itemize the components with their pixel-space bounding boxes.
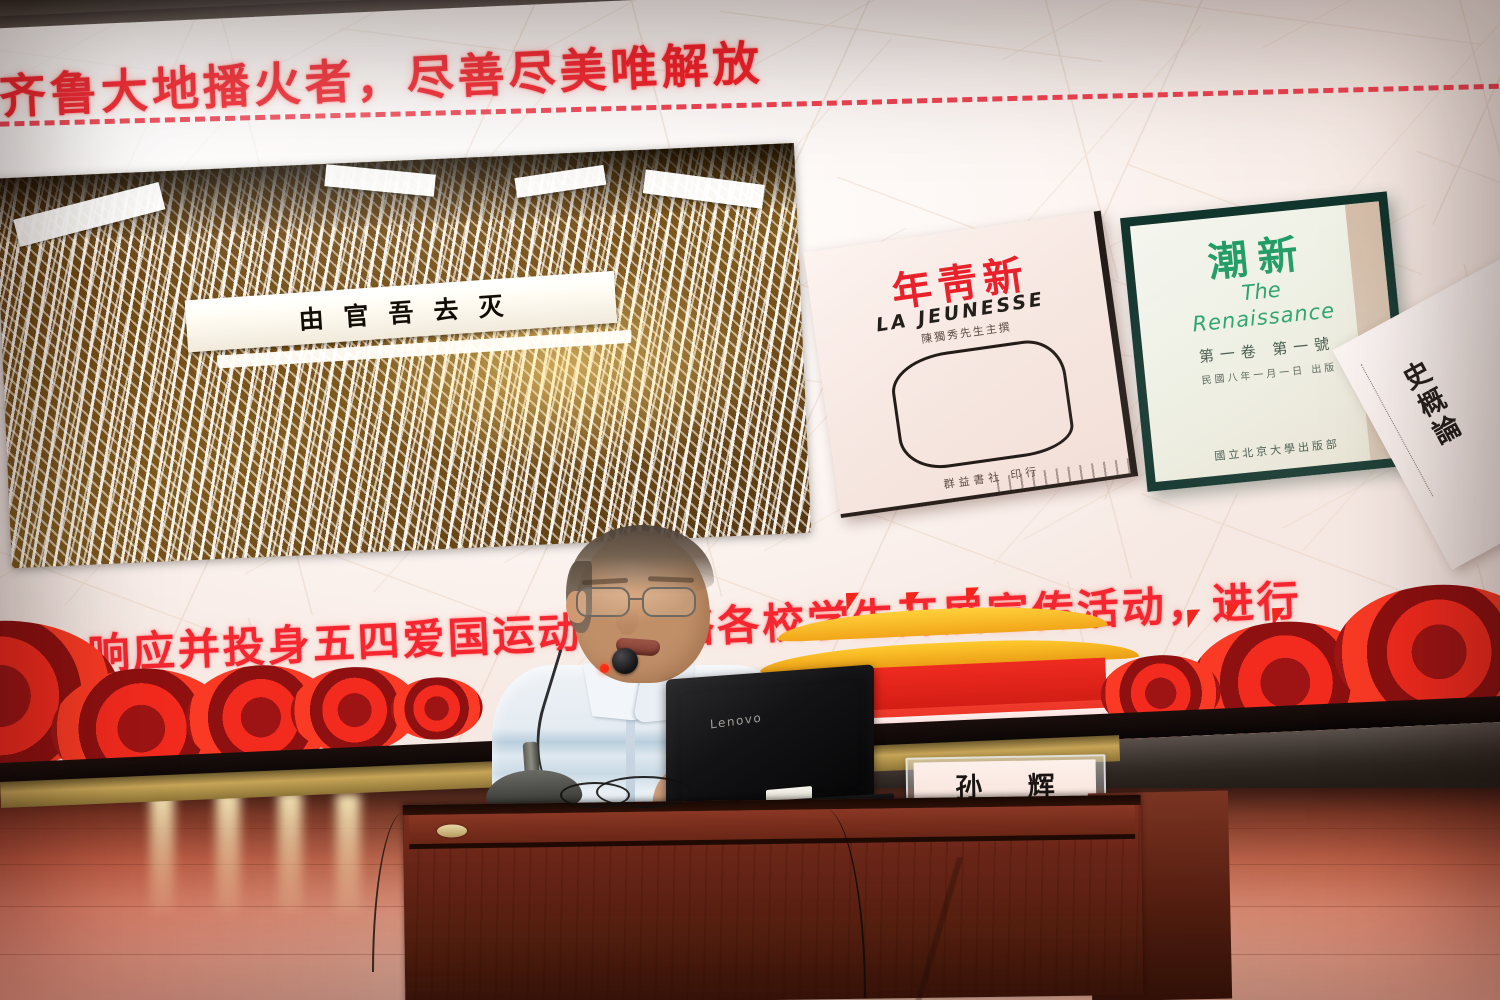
laptop[interactable]: Lenovo	[666, 672, 890, 820]
light-reflection	[336, 794, 360, 914]
flag-icon	[846, 593, 860, 612]
glasses	[576, 587, 708, 619]
lecture-hall-photo: 齐鲁大地播火者，尽善尽美唯解放 由官吾去灭 年靑新 LA JEUNESSE 陳獨…	[0, 0, 1500, 1000]
magazine-new-youth: 年靑新 LA JEUNESSE 陳獨秀先生主撰 群益書社 印行	[804, 211, 1139, 518]
flag-icon	[966, 587, 980, 606]
magazine-publisher: 國立北京大學出版部	[1161, 430, 1393, 469]
flag-icon	[906, 592, 920, 611]
microphone-indicator-led	[600, 664, 609, 673]
glasses-lens-right	[642, 587, 696, 617]
flag-icon	[1227, 604, 1241, 623]
protest-banner-secondary	[217, 330, 637, 448]
nose	[616, 607, 638, 635]
light-reflection	[278, 792, 302, 912]
flag-icon	[1187, 609, 1201, 628]
may-fourth-crowd-photo: 由官吾去灭	[0, 143, 811, 568]
protest-banner-text: 由官吾去灭	[278, 285, 525, 338]
light-reflection	[216, 792, 240, 912]
podium-wood-grain	[703, 854, 1185, 1000]
desk-cable-loop	[596, 776, 692, 808]
light-reflection	[150, 792, 174, 912]
microphone-capsule	[612, 648, 638, 674]
wooden-podium	[403, 795, 1144, 1000]
magazine-ornament-frame	[887, 335, 1076, 473]
